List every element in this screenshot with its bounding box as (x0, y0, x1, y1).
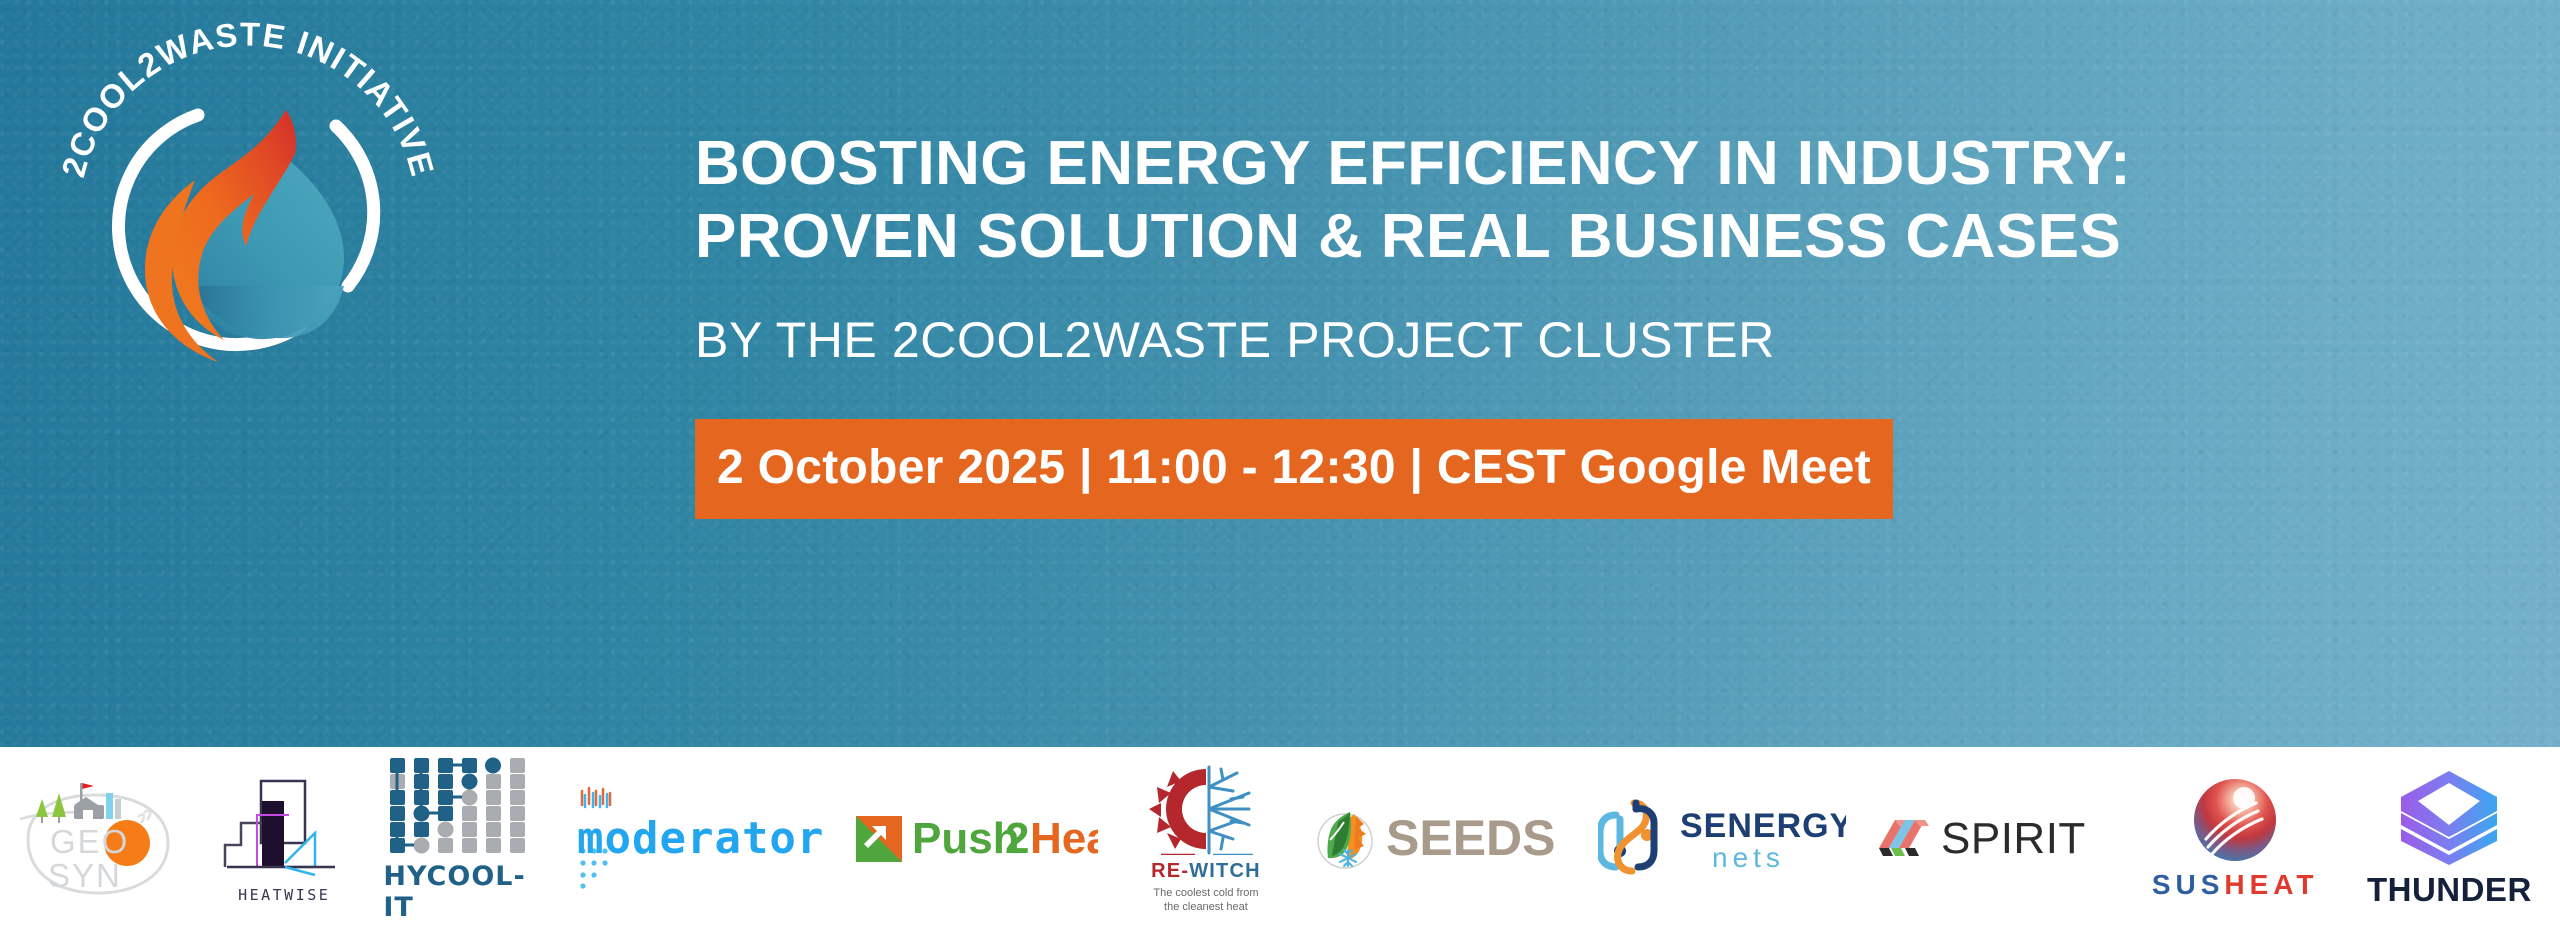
thunder-hexagon-icon (2394, 769, 2504, 865)
hycool-it-label: HYCOOL-IT (383, 861, 538, 923)
senergy-nets-label: nets (1712, 842, 1785, 873)
spirit-blocks-icon (1875, 814, 1931, 864)
seeds-label: SEEDS (1386, 811, 1556, 866)
re-witch-label: RE-WITCH (1151, 860, 1261, 883)
re-witch-label-witch: WITCH (1189, 860, 1261, 882)
logo-re-witch[interactable]: RE-WITCH The coolest cold from the clean… (1131, 763, 1281, 915)
thunder-label: THUNDER (2367, 871, 2532, 909)
logo-geosyn[interactable]: GEO SYN (10, 777, 185, 902)
push2heat-arrow-icon (856, 816, 902, 862)
event-datetime-badge: 2 October 2025 | 11:00 - 12:30 | CEST Go… (695, 419, 1893, 519)
hero-text-block: BOOSTING ENERGY EFFICIENCY IN INDUSTRY: … (695, 128, 2255, 519)
geosyn-label-line1: GEO (50, 823, 129, 860)
heatwise-buildings-icon (219, 775, 349, 883)
logo-thunder[interactable]: THUNDER (2357, 769, 2542, 909)
senergy-pipes-icon (1598, 799, 1670, 879)
logo-senergy-nets[interactable]: SENERGY nets (1599, 799, 1844, 879)
push2heat-label-heat: Heat (1030, 814, 1098, 863)
page-title-line-1: BOOSTING ENERGY EFFICIENCY IN INDUSTRY: (695, 128, 2255, 201)
page-title-line-2: PROVEN SOLUTION & REAL BUSINESS CASES (695, 201, 2255, 274)
geosyn-factory-icon (74, 783, 121, 819)
senergy-label: SENERGY (1680, 807, 1846, 845)
logo-spirit[interactable]: SPIRIT (1879, 813, 2114, 865)
logo-heatwise[interactable]: HEATWISE (219, 775, 349, 904)
re-witch-tagline-line1: The coolest cold from (1153, 887, 1258, 899)
logo-moderator[interactable]: moderator (573, 785, 823, 893)
re-witch-tagline: The coolest cold from the cleanest heat (1153, 887, 1258, 915)
page-subtitle: BY THE 2COOL2WASTE PROJECT CLUSTER (695, 315, 2255, 365)
hycool-grid-icon (386, 756, 536, 856)
push2heat-label-push: Push (912, 814, 1020, 863)
seeds-leaf-icon (1314, 808, 1376, 870)
susheat-label: SUSHEAT (2152, 869, 2319, 901)
spirit-label: SPIRIT (1941, 814, 2086, 863)
re-witch-sun-snowflake-icon (1131, 763, 1281, 855)
susheat-label-heat: HEAT (2224, 869, 2318, 900)
push2heat-label-2: 2 (1005, 814, 1029, 863)
logo-seeds[interactable]: SEEDS (1315, 808, 1565, 870)
webinar-banner: 2COOL2WASTE INITIATIVE BOOSTING ENERGY E… (0, 0, 2560, 931)
re-witch-tagline-line2: the cleanest heat (1164, 901, 1248, 913)
logo-push2heat[interactable]: Push 2 Heat (857, 813, 1097, 865)
geosyn-label-line2: SYN (48, 857, 122, 894)
susheat-label-sus: SUS (2152, 869, 2225, 900)
moderator-label: moderator (577, 813, 823, 864)
re-witch-label-re: RE- (1151, 860, 1189, 882)
2cool2waste-logo: 2COOL2WASTE INITIATIVE (48, 18, 448, 418)
partner-logo-strip: GEO SYN HEATWISE (0, 747, 2560, 931)
logo-susheat[interactable]: SUSHEAT (2148, 777, 2323, 901)
geosyn-trees-icon (36, 793, 66, 823)
heatwise-label: HEATWISE (238, 886, 330, 904)
logo-hycool-it[interactable]: HYCOOL-IT (383, 756, 538, 923)
susheat-sphere-icon (2192, 777, 2278, 863)
